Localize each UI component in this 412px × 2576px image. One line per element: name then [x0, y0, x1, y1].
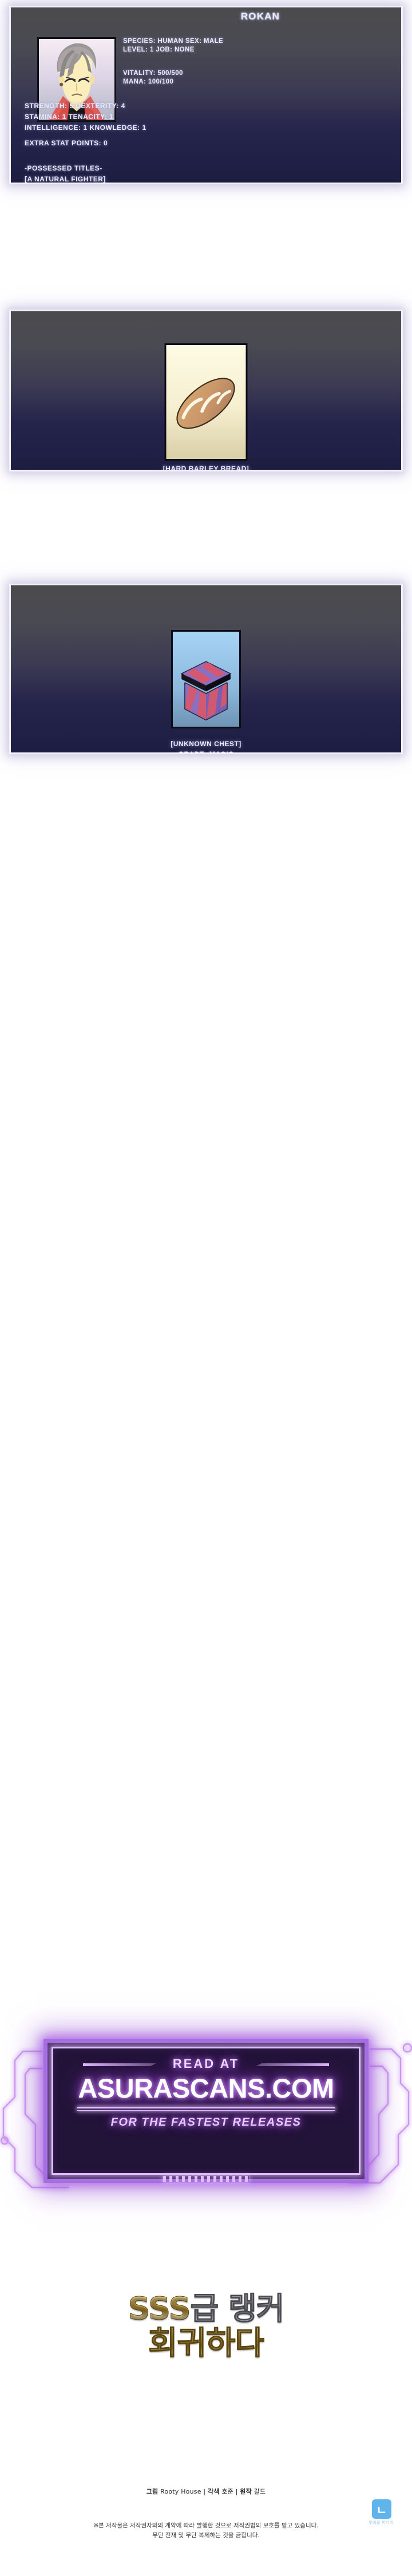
character-vitals-line: VITALITY: 500/500 MANA: 100/100 — [123, 69, 295, 86]
series-logo-ranker: 급 랭커 — [190, 2290, 284, 2327]
credit-adapt-label: 각색 — [208, 2488, 220, 2495]
credit-original-label: 원작 — [240, 2488, 252, 2495]
character-possessed-titles: -POSSESSED TITLES- [A NATURAL FIGHTER] [… — [25, 163, 120, 184]
series-logo-line-2: 회귀하다 — [0, 2326, 412, 2361]
item-name-bread: [HARD BARLEY BREAD] — [11, 463, 401, 471]
credit-art-value: Rooty House — [160, 2488, 201, 2495]
credit-line: 그림 Rooty House | 각색 호준 | 원작 갈드 — [0, 2487, 412, 2496]
credit-sep-2: | — [236, 2488, 238, 2495]
bread-loaf-glyph — [167, 345, 246, 459]
banner-read-at-label: READ AT — [47, 2056, 365, 2071]
banner-dot-strip — [163, 2176, 249, 2182]
banner-frame: READ AT ASURASCANS.COM FOR THE FASTEST R… — [43, 2039, 369, 2183]
series-logo-sss: SSS — [128, 2290, 191, 2327]
item-name-chest: [UNKNOWN CHEST] — [11, 739, 401, 749]
credit-art-label: 그림 — [146, 2488, 159, 2495]
publisher-logo-subtitle: 루비콜 미디어 — [360, 2520, 402, 2526]
item-panel-chest: [UNKNOWN CHEST] GRADE: MAGIC WEIGHT: 100… — [9, 584, 403, 754]
footer: 그림 Rooty House | 각색 호준 | 원작 갈드 ㄴ 루비콜 미디어… — [0, 2487, 412, 2541]
series-logo-line-1: SSS급 랭커 — [0, 2292, 412, 2326]
bread-loaf-icon — [165, 343, 248, 461]
item-grade-chest: GRADE: MAGIC — [11, 749, 401, 754]
credit-original-value: 갈드 — [254, 2488, 266, 2495]
treasure-chest-icon — [171, 630, 241, 728]
character-primary-stats: STRENGTH: 5 DEXTERITY: 4 STAMINA: 1 TENA… — [25, 101, 146, 133]
credit-adapt-value: 호준 — [221, 2488, 233, 2495]
character-extra-stat-points: EXTRA STAT POINTS: 0 — [25, 138, 108, 149]
item-panel-bread: [HARD BARLEY BREAD] GRADE: NORMAL WEIGHT… — [9, 310, 403, 471]
asura-scans-banner[interactable]: READ AT ASURASCANS.COM FOR THE FASTEST R… — [0, 2028, 412, 2217]
publisher-logo-icon: ㄴ — [372, 2499, 391, 2519]
credit-sep-1: | — [203, 2488, 205, 2495]
copyright-notice: ※본 저작물은 저작권자와의 계약에 따라 발행한 것으로 저작권법의 보호를 … — [0, 2521, 412, 2541]
banner-tagline: FOR THE FASTEST RELEASES — [47, 2116, 365, 2129]
character-species-line: SPECIES: HUMAN SEX: MALE LEVEL: 1 JOB: N… — [123, 37, 295, 54]
character-name: ROKAN — [123, 11, 398, 22]
banner-divider-rule — [77, 2107, 335, 2111]
treasure-chest-glyph — [173, 632, 239, 727]
character-status-window: ROKAN SPECIES: HUMAN SEX: MALE LEVEL: 1 … — [9, 6, 403, 184]
series-logo: SSS급 랭커 회귀하다 — [0, 2292, 412, 2397]
banner-domain-link[interactable]: ASURASCANS.COM — [47, 2072, 365, 2104]
